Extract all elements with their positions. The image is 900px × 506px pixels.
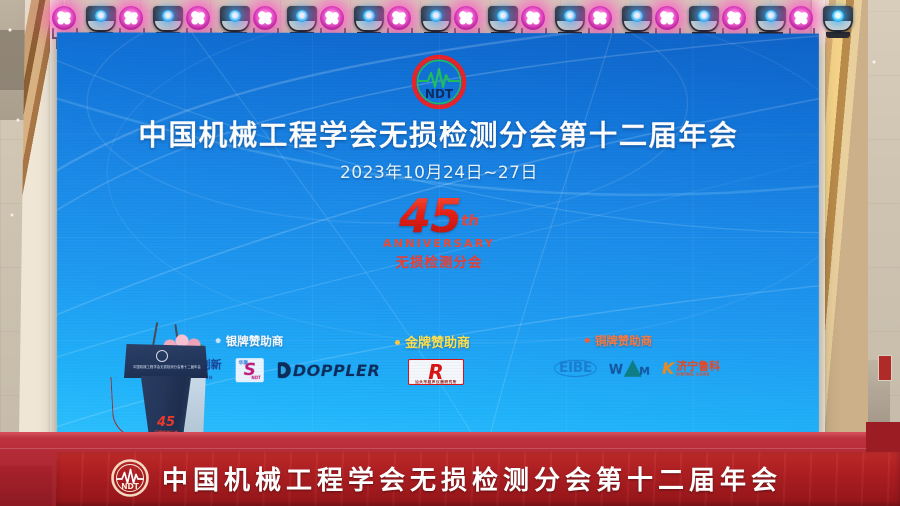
stage-right-step	[866, 422, 900, 452]
par-light-head-icon	[320, 6, 344, 30]
silver-bullet-icon	[216, 338, 221, 343]
moving-head-lamp-icon	[153, 6, 183, 32]
stage-front-banner: NDT 中国机械工程学会无损检测分会第十二届年会	[56, 452, 900, 506]
podium-ndt-logo-icon	[156, 350, 168, 362]
moving-head-lamp-icon	[756, 6, 786, 32]
ndt-swirl-top-label: 华测	[239, 360, 248, 366]
par-light-head-icon	[52, 6, 76, 30]
anniversary-badge: 45th ANNIVERSARY 无损检测分会	[57, 193, 819, 271]
doppler-logo: DOPPLER	[278, 361, 380, 380]
ndt-swirl-logo: 华测 S NDT	[236, 358, 264, 382]
gold-label-text: 金牌赞助商	[405, 336, 470, 351]
svg-text:NDT: NDT	[425, 87, 454, 101]
par-light-head-icon	[387, 6, 411, 30]
par-light-head-icon	[521, 6, 545, 30]
podium-title-text: 中国机械工程学会无损检测分会第十二届年会	[133, 364, 201, 369]
conference-title: 中国机械工程学会无损检测分会第十二届年会	[57, 113, 819, 155]
stage-left-riser	[0, 466, 52, 506]
par-light-head-icon	[186, 6, 210, 30]
gold-bullet-icon	[395, 340, 400, 345]
sponsor-logos-gold: R 汕头市超声仪器研究所	[408, 359, 464, 385]
luke-mark-icon: K	[662, 360, 674, 376]
stage-floor-seam	[0, 448, 900, 449]
wm-logo: W M	[609, 360, 650, 377]
sponsor-tier-label-silver: 银牌赞助商	[216, 333, 284, 349]
silver-label-text: 银牌赞助商	[226, 334, 284, 348]
moving-head-lamp-icon	[488, 6, 518, 32]
luke-cn-text: 济宁鲁科	[676, 360, 720, 371]
par-light-head-icon	[789, 6, 813, 30]
ndt-swirl-bottom-label: NDT	[251, 375, 260, 380]
par-light-head-icon	[655, 6, 679, 30]
bronze-label-text: 铜牌赞助商	[595, 334, 652, 348]
sponsor-tier-label-bronze: 铜牌赞助商	[585, 333, 652, 349]
moving-head-lamp-icon	[689, 6, 719, 32]
moving-head-lamp-icon	[86, 6, 116, 32]
moving-head-lamp-icon	[354, 6, 384, 32]
moving-head-lamp-icon	[421, 6, 451, 32]
bronze-bullet-icon	[585, 338, 590, 343]
banner-logo-text: NDT	[121, 482, 140, 491]
anniversary-number: 45	[399, 189, 461, 243]
wm-w-letter: W	[609, 364, 623, 377]
par-light-head-icon	[253, 6, 277, 30]
par-light-head-icon	[119, 6, 143, 30]
moving-head-lamp-icon	[220, 6, 250, 32]
moving-head-lamp-icon	[823, 6, 853, 32]
anniversary-subtitle: 无损检测分会	[57, 251, 819, 271]
banner-content: NDT 中国机械工程学会无损检测分会第十二届年会	[110, 458, 782, 498]
sponsor-logos-bronze: EIBE W M K 济宁鲁科 JINING LUKE	[554, 360, 720, 377]
par-light-head-icon	[588, 6, 612, 30]
conference-stage-photo: NDT 中国机械工程学会无损检测分会第十二届年会 2023年10月24日~27日…	[0, 0, 900, 506]
conference-date: 2023年10月24日~27日	[57, 158, 819, 183]
right-gold-pillar	[824, 0, 868, 450]
moving-head-light	[823, 6, 853, 38]
doppler-text: DOPPLER	[293, 361, 380, 380]
eibe-logo: EIBE	[554, 360, 597, 377]
doppler-d-icon	[278, 362, 291, 378]
moving-head-lamp-icon	[555, 6, 585, 32]
stage-floor-edge	[0, 432, 900, 438]
sponsor-tier-label-gold: 金牌赞助商	[395, 332, 470, 351]
anniversary-ordinal: th	[461, 212, 479, 230]
moving-head-lamp-icon	[622, 6, 652, 32]
rx-gold-sponsor-logo: R 汕头市超声仪器研究所	[408, 359, 464, 385]
par-light-head-icon	[722, 6, 746, 30]
rx-sub-text: 汕头市超声仪器研究所	[409, 380, 463, 385]
moving-head-base	[826, 32, 850, 38]
par-light-head-icon	[454, 6, 478, 30]
wm-m-letter: M	[639, 366, 650, 377]
moving-head-lamp-icon	[287, 6, 317, 32]
banner-title-text: 中国机械工程学会无损检测分会第十二届年会	[162, 460, 782, 497]
banner-ndt-logo-icon: NDT	[110, 458, 150, 498]
ndt-logo-icon: NDT	[410, 53, 468, 111]
jining-luke-logo: K 济宁鲁科 JINING LUKE	[662, 360, 720, 376]
podium-top-panel: 中国机械工程学会无损检测分会第十二届年会	[124, 344, 208, 378]
wall-exit-sign	[878, 355, 892, 381]
